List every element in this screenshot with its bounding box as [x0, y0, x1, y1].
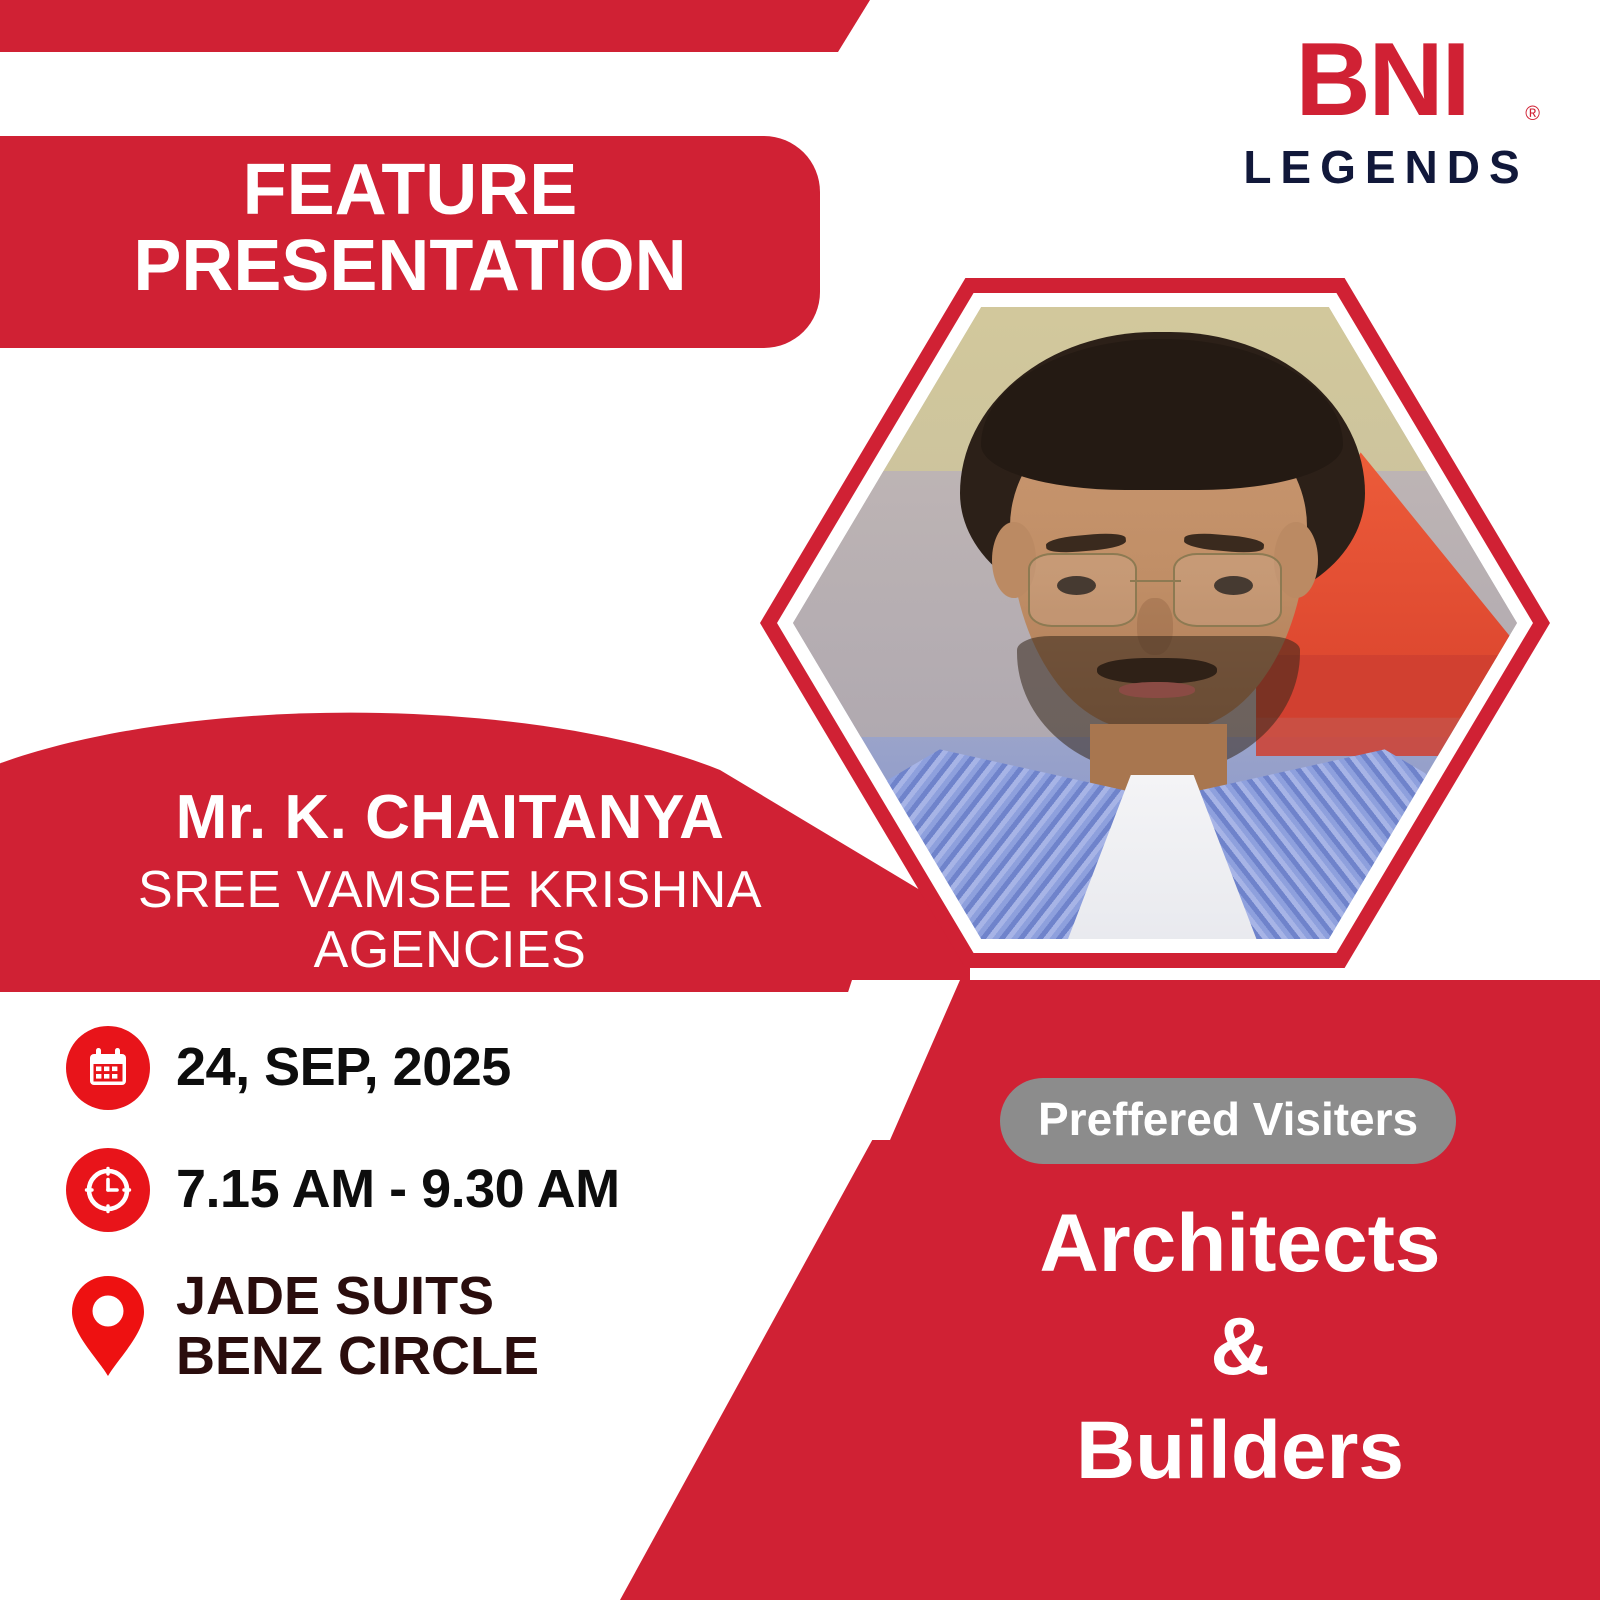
chapter-name: LEGENDS	[1232, 140, 1532, 194]
bni-logo: BNI ® LEGENDS	[1232, 28, 1532, 194]
speaker-name: Mr. K. CHAITANYA	[0, 782, 900, 853]
event-venue-line-1: JADE SUITS	[176, 1266, 539, 1326]
page-title: FEATURE PRESENTATION	[40, 152, 780, 305]
event-date-row: 24, SEP, 2025	[62, 1022, 802, 1114]
registered-mark: ®	[1525, 104, 1538, 124]
location-pin-icon-wrap	[62, 1266, 154, 1386]
portrait-eyeglass-bridge	[1130, 580, 1181, 582]
bni-wordmark: BNI ®	[1232, 28, 1532, 132]
feature-presentation-poster: BNI ® LEGENDS FEATURE PRESENTATION	[0, 0, 1600, 1600]
portrait-eyeglass-right	[1173, 553, 1282, 627]
category-line-1: Architects	[960, 1192, 1520, 1295]
speaker-company: SREE VAMSEE KRISHNA AGENCIES	[0, 860, 900, 980]
page-title-line-2: PRESENTATION	[40, 228, 780, 304]
portrait-eyeglass-left	[1028, 553, 1137, 627]
calendar-icon-wrap	[62, 1022, 154, 1114]
event-details-list: 24, SEP, 2025	[62, 1022, 802, 1417]
preferred-visitors-badge: Preffered Visiters	[1000, 1078, 1456, 1164]
clock-icon-wrap	[62, 1144, 154, 1236]
event-date-value: 24, SEP, 2025	[176, 1038, 511, 1097]
bni-wordmark-text: BNI	[1295, 22, 1468, 138]
category-line-3: Builders	[960, 1399, 1520, 1502]
event-time-row: 7.15 AM - 9.30 AM	[62, 1144, 802, 1236]
location-pin-icon	[69, 1274, 147, 1378]
event-venue-line-2: BENZ CIRCLE	[176, 1326, 539, 1386]
calendar-icon	[66, 1026, 150, 1110]
preferred-visitors-categories: Architects & Builders	[960, 1192, 1520, 1502]
clock-icon	[66, 1148, 150, 1232]
page-title-line-1: FEATURE	[40, 152, 780, 228]
portrait-moustache	[1097, 658, 1216, 685]
bni-slash-icon	[1492, 34, 1524, 96]
portrait-mouth	[1119, 682, 1195, 698]
event-venue-value: JADE SUITS BENZ CIRCLE	[176, 1266, 539, 1387]
event-venue-row: JADE SUITS BENZ CIRCLE	[62, 1266, 802, 1387]
category-line-2: &	[960, 1295, 1520, 1398]
event-time-value: 7.15 AM - 9.30 AM	[176, 1160, 620, 1219]
